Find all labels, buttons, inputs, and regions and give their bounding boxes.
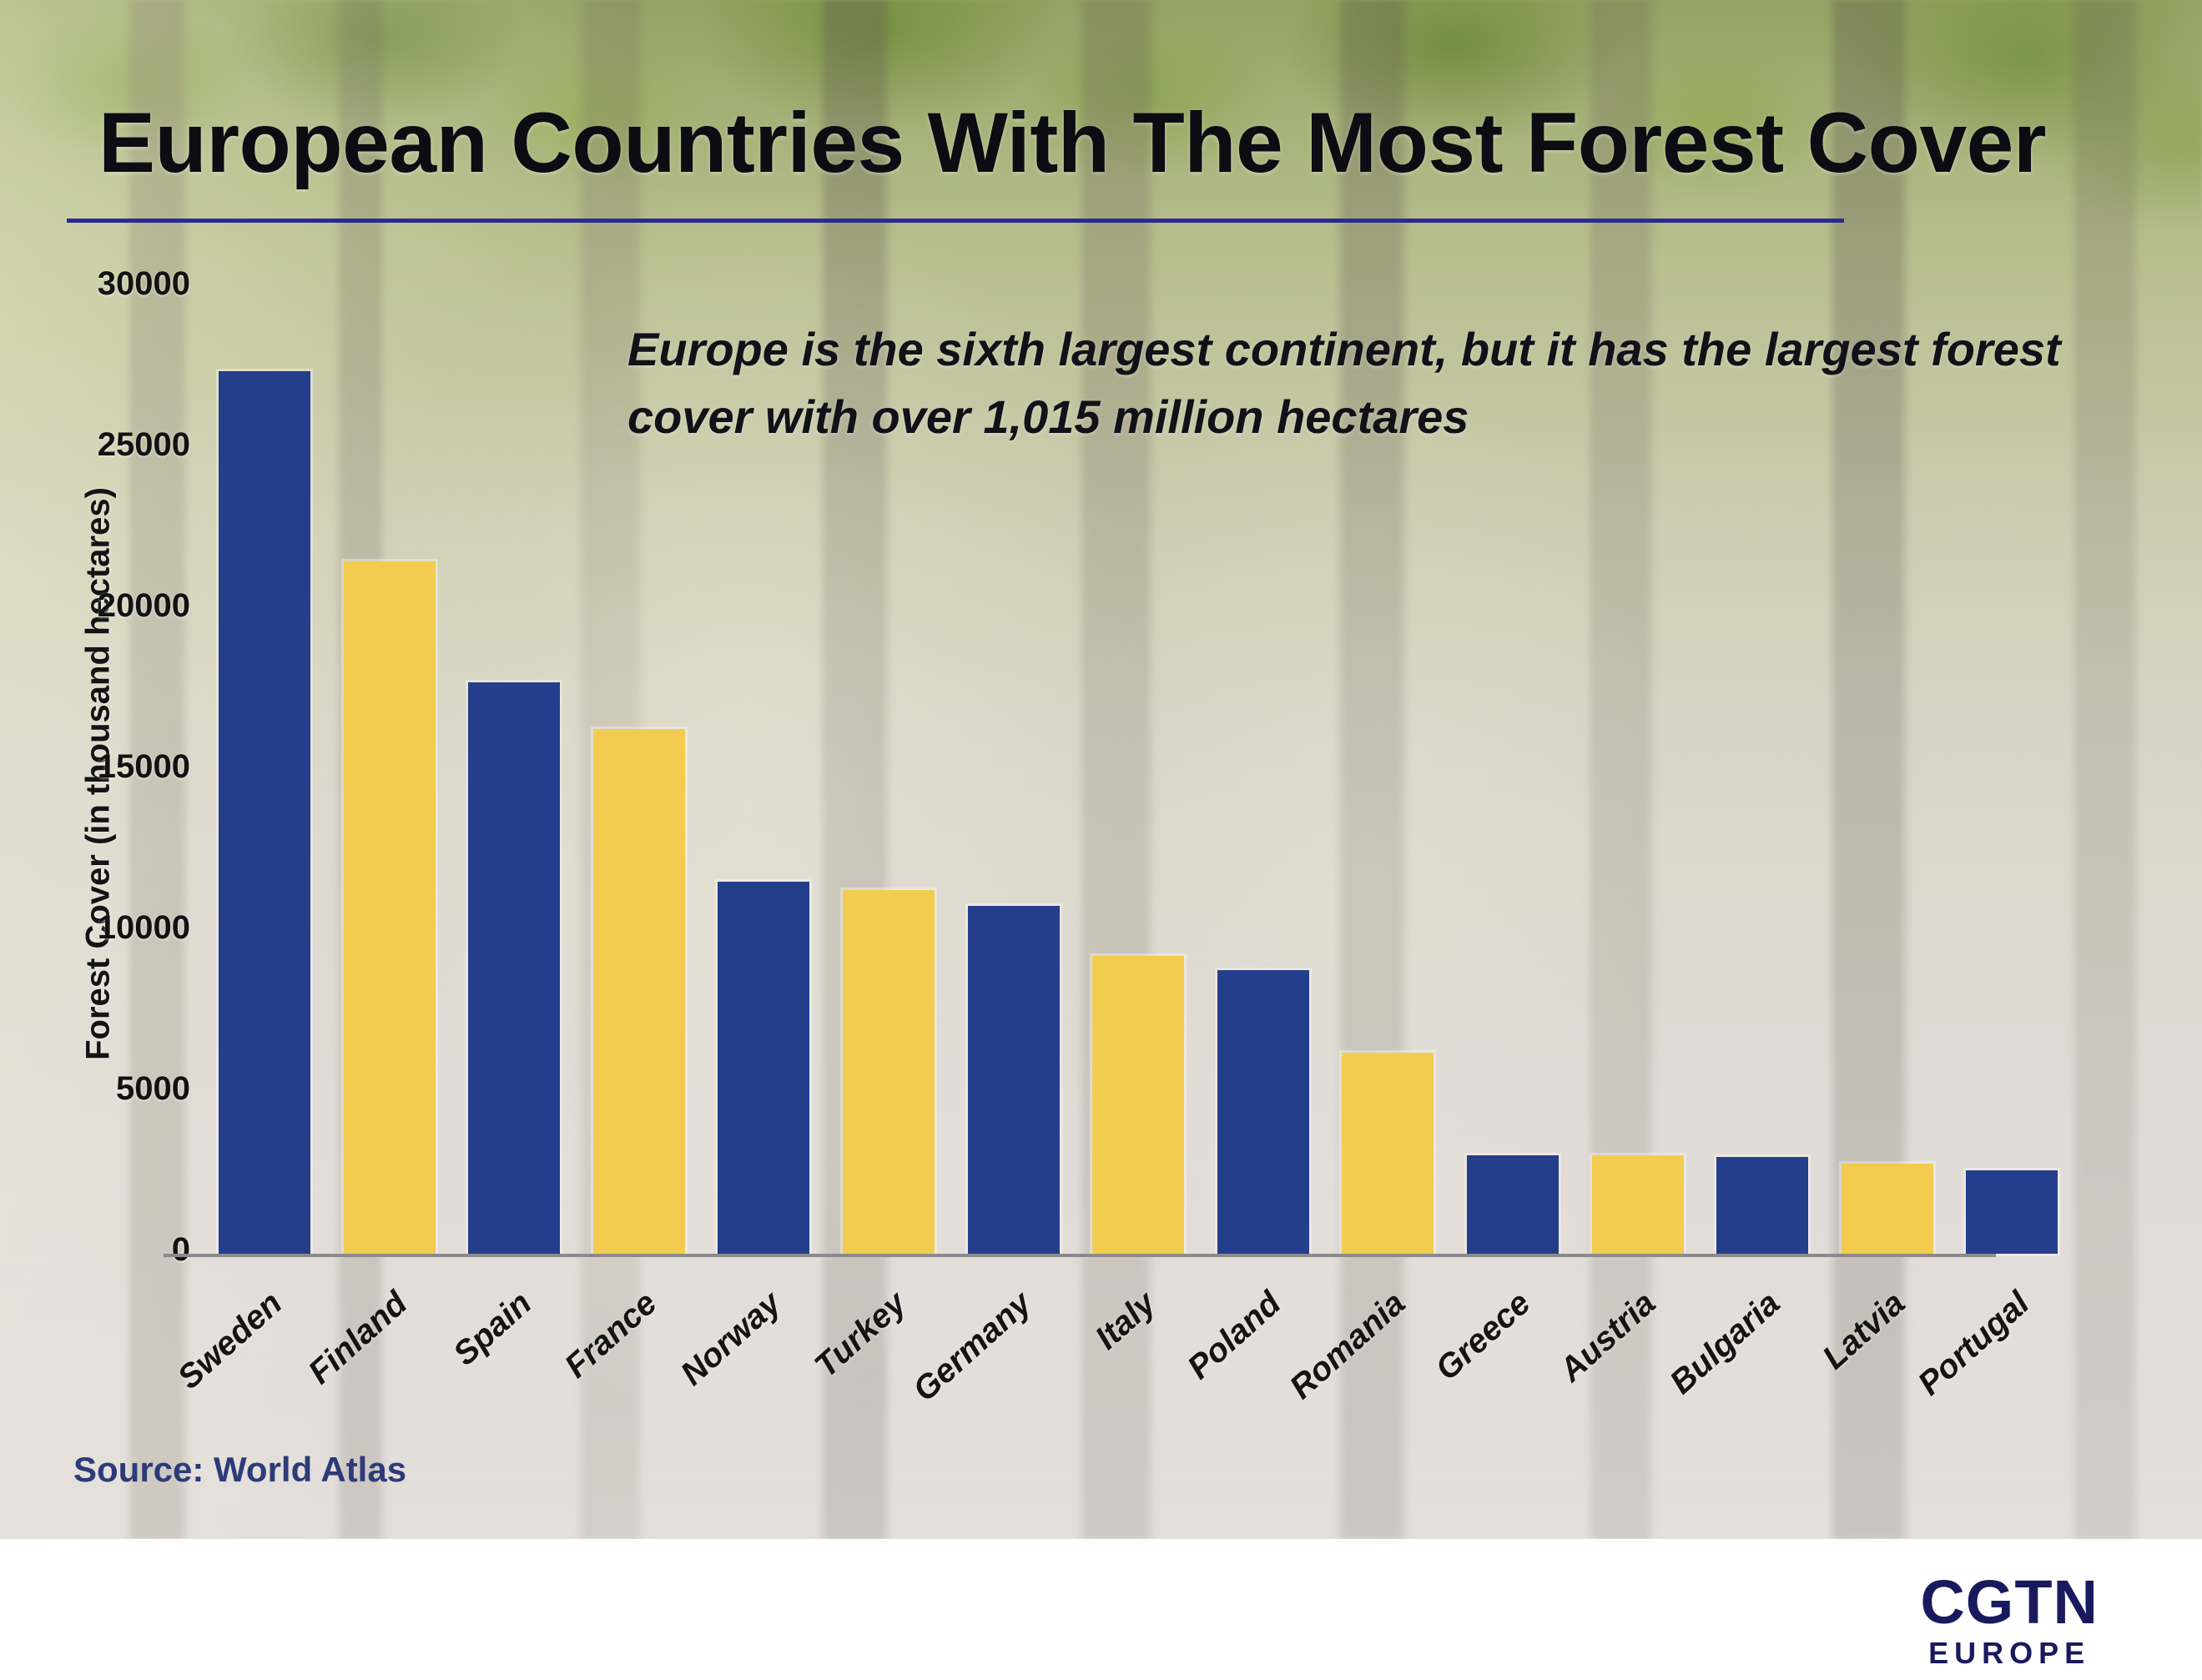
bar-austria (1592, 1155, 1684, 1254)
bar-italy (1092, 956, 1184, 1254)
y-axis-tick-label: 30000 (98, 265, 190, 303)
bar-poland (1217, 970, 1309, 1254)
bar-chart: Forest Cover (in thousand hectares) 0500… (0, 0, 2202, 1539)
bar-latvia (1842, 1164, 1933, 1254)
y-axis-tick-label: 20000 (98, 587, 190, 625)
source-note: Source: World Atlas (73, 1450, 406, 1490)
bar-romania (1342, 1053, 1434, 1254)
logo-cgtn-text: CGTN (1920, 1572, 2099, 1633)
infographic-poster: European Countries With The Most Forest … (0, 0, 2202, 1680)
x-axis-line (164, 1254, 1996, 1257)
bar-finland (344, 561, 436, 1254)
bar-greece (1467, 1155, 1559, 1254)
logo-europe-text: EUROPE (1920, 1638, 2099, 1668)
y-axis-tick-label: 25000 (98, 426, 190, 464)
bar-bulgaria (1716, 1157, 1808, 1254)
bar-turkey (843, 890, 935, 1254)
y-axis-tick-label: 10000 (98, 909, 190, 947)
y-axis-tick-label: 5000 (116, 1070, 190, 1108)
bar-france (593, 729, 685, 1254)
footer-band (0, 1539, 2202, 1680)
bar-spain (468, 682, 560, 1254)
bar-germany (968, 906, 1060, 1254)
y-axis-tick-label: 15000 (98, 748, 190, 786)
bar-norway (718, 882, 809, 1254)
cgtn-europe-logo: CGTN EUROPE (1920, 1572, 2099, 1668)
bar-portugal (1966, 1170, 2058, 1254)
bar-sweden (219, 371, 310, 1254)
y-axis-tick-label: 0 (172, 1231, 190, 1269)
